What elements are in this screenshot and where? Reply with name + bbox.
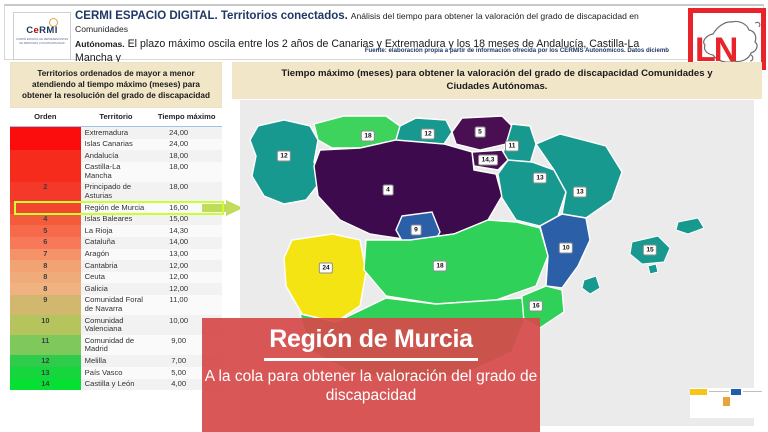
table-row[interactable]: 10Comunidad Valenciana10,00 — [10, 315, 222, 335]
map-value-label: 13 — [573, 187, 587, 198]
table-row[interactable]: 6Cataluña14,00 — [10, 237, 222, 249]
table-header-row: Orden Territorio Tiempo máximo — [10, 108, 222, 127]
cell-tiempo-maximo: 12,00 — [151, 260, 222, 272]
cell-territorio: Cantabria — [81, 260, 152, 272]
banner-title: Región de Murcia — [202, 324, 540, 354]
cell-tiempo-maximo: 14,30 — [151, 225, 222, 237]
table-caption: Territorios ordenados de mayor a menor a… — [10, 62, 222, 108]
cell-orden: 2 — [10, 182, 81, 202]
map-value-label: 10 — [559, 243, 573, 254]
table-row[interactable]: 5La Rioja14,30 — [10, 225, 222, 237]
cell-territorio: Comunidad de Madrid — [81, 335, 152, 355]
table-row[interactable]: 14Castilla y León4,00 — [10, 379, 222, 391]
cell-tiempo-maximo: 14,00 — [151, 237, 222, 249]
cell-orden — [10, 127, 81, 139]
cell-territorio: Islas Canarias — [81, 139, 152, 151]
sponsor-row-1 — [690, 388, 762, 395]
sponsor-eu-icon — [731, 389, 741, 395]
map-value-label: 12 — [277, 151, 291, 162]
cell-tiempo-maximo: 18,00 — [151, 162, 222, 182]
header-title-bold: CERMI ESPACIO DIGITAL. Territorios conec… — [75, 10, 348, 22]
slide-header: CeRMI COMITÉ ESPAÑOL DE REPRESENTANTES D… — [4, 4, 764, 60]
cell-territorio: Cataluña — [81, 237, 152, 249]
column-header-tiempo[interactable]: Tiempo máximo — [151, 108, 222, 127]
cell-territorio: La Rioja — [81, 225, 152, 237]
map-value-label: 18 — [433, 261, 447, 272]
header-title-line: CERMI ESPACIO DIGITAL. Territorios conec… — [75, 10, 671, 36]
map-value-label: 9 — [411, 225, 422, 236]
cell-territorio: País Vasco — [81, 367, 152, 379]
source-note: Fuente: elaboración propia a partir de i… — [365, 47, 669, 54]
slide-canvas: CeRMI COMITÉ ESPAÑOL DE REPRESENTANTES D… — [0, 0, 768, 432]
cell-territorio: Comunidad Foral de Navarra — [81, 295, 152, 315]
sponsor-mark-icon — [723, 397, 730, 406]
table-row[interactable]: 8Ceuta12,00 — [10, 272, 222, 284]
cell-territorio: Melilla — [81, 355, 152, 367]
ranking-table: Orden Territorio Tiempo máximo Extremadu… — [10, 108, 222, 390]
region-extremadura — [284, 234, 366, 322]
cell-territorio: Islas Baleares — [81, 214, 152, 226]
ln-channel-logo: LN — [688, 8, 766, 70]
cermi-logo-subtitle: COMITÉ ESPAÑOL DE REPRESENTANTES DE PERS… — [14, 38, 70, 46]
region-galicia — [250, 120, 320, 204]
cell-territorio: Región de Murcia — [81, 202, 152, 214]
cell-orden — [10, 150, 81, 162]
cell-territorio: Aragón — [81, 249, 152, 261]
sponsor-line-1 — [709, 391, 729, 393]
table-row[interactable]: 12Melilla7,00 — [10, 355, 222, 367]
table-row[interactable]: Castilla-La Mancha18,00 — [10, 162, 222, 182]
cell-tiempo-maximo: 11,00 — [151, 295, 222, 315]
logo-ring-icon — [49, 18, 58, 27]
banner-subtitle: A la cola para obtener la valoración del… — [202, 367, 540, 405]
table-row[interactable]: 9Comunidad Foral de Navarra11,00 — [10, 295, 222, 315]
table-row[interactable]: 8Cantabria12,00 — [10, 260, 222, 272]
region-islas-baleares — [582, 218, 704, 294]
map-value-label: 4 — [383, 185, 394, 196]
map-title: Tiempo máximo (meses) para obtener la va… — [232, 62, 762, 99]
map-value-label: 24 — [319, 263, 333, 274]
column-header-orden[interactable]: Orden — [10, 108, 81, 127]
table-row[interactable]: Andalucía18,00 — [10, 150, 222, 162]
cell-orden: 8 — [10, 260, 81, 272]
map-value-label: 15 — [643, 245, 657, 256]
sponsor-ministry-icon — [690, 389, 707, 395]
cell-orden — [10, 162, 81, 182]
sponsor-caption — [690, 406, 762, 410]
table-row[interactable]: 13País Vasco5,00 — [10, 367, 222, 379]
cell-territorio: Castilla y León — [81, 379, 152, 391]
cell-orden — [10, 202, 81, 214]
cell-tiempo-maximo: 24,00 — [151, 139, 222, 151]
cell-territorio: Extremadura — [81, 127, 152, 139]
table-head: Orden Territorio Tiempo máximo — [10, 108, 222, 127]
banner-divider — [264, 358, 478, 361]
cell-territorio: Comunidad Valenciana — [81, 315, 152, 335]
sponsor-line-2 — [743, 391, 763, 393]
cell-tiempo-maximo: 18,00 — [151, 150, 222, 162]
map-value-label: 13 — [533, 173, 547, 184]
table-row[interactable]: 4Islas Baleares15,00 — [10, 214, 222, 226]
map-value-label: 14,3 — [478, 155, 498, 166]
cell-orden: 6 — [10, 237, 81, 249]
cell-orden: 12 — [10, 355, 81, 367]
cell-territorio: Ceuta — [81, 272, 152, 284]
cell-territorio: Andalucía — [81, 150, 152, 162]
cell-territorio: Castilla-La Mancha — [81, 162, 152, 182]
cell-orden: 5 — [10, 225, 81, 237]
cell-orden: 10 — [10, 315, 81, 335]
column-header-territorio[interactable]: Territorio — [81, 108, 152, 127]
header-line2-lead: Autónomas. — [75, 39, 125, 49]
cell-tiempo-maximo: 12,00 — [151, 272, 222, 284]
cell-orden: 9 — [10, 295, 81, 315]
header-text-block: CERMI ESPACIO DIGITAL. Territorios conec… — [75, 10, 671, 65]
table-row[interactable]: Extremadura24,00 — [10, 127, 222, 139]
cell-orden: 14 — [10, 379, 81, 391]
table-row[interactable]: 7Aragón13,00 — [10, 249, 222, 261]
map-value-label: 11 — [505, 141, 519, 152]
table-row[interactable]: 11Comunidad de Madrid9,00 — [10, 335, 222, 355]
map-value-label: 5 — [475, 127, 486, 138]
cell-tiempo-maximo: 24,00 — [151, 127, 222, 139]
cell-orden: 13 — [10, 367, 81, 379]
cermi-logo-wordmark: CeRMI — [26, 26, 58, 36]
map-value-label: 16 — [529, 301, 543, 312]
lower-third-banner: Región de Murcia A la cola para obtener … — [202, 318, 540, 432]
ranking-panel: Territorios ordenados de mayor a menor a… — [6, 62, 228, 428]
map-value-label: 12 — [421, 129, 435, 140]
cell-orden: 11 — [10, 335, 81, 355]
cell-territorio: Principado de Asturias — [81, 182, 152, 202]
cell-orden: 8 — [10, 272, 81, 284]
arrow-shaft — [202, 204, 228, 212]
map-value-label: 18 — [361, 131, 375, 142]
cell-orden: 7 — [10, 249, 81, 261]
cell-orden: 8 — [10, 283, 81, 295]
table-row[interactable]: Islas Canarias24,00 — [10, 139, 222, 151]
sponsor-logos — [690, 388, 762, 418]
cermi-logo: CeRMI COMITÉ ESPAÑOL DE REPRESENTANTES D… — [13, 12, 71, 60]
cell-tiempo-maximo: 12,00 — [151, 283, 222, 295]
table-row[interactable]: 8Galicia12,00 — [10, 283, 222, 295]
table-body: Extremadura24,00Islas Canarias24,00Andal… — [10, 127, 222, 391]
cell-orden: 4 — [10, 214, 81, 226]
table-row[interactable]: 2Principado de Asturias18,00 — [10, 182, 222, 202]
table-row[interactable]: Región de Murcia16,00 — [10, 202, 222, 214]
cell-orden — [10, 139, 81, 151]
cell-tiempo-maximo: 13,00 — [151, 249, 222, 261]
cell-territorio: Galicia — [81, 283, 152, 295]
